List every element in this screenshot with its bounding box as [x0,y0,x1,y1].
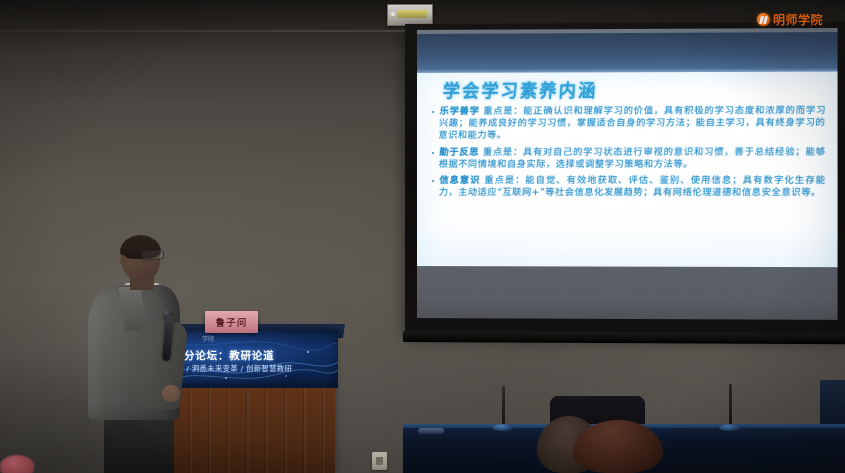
bullet-lead-term: 勤于反思 [439,147,479,158]
screen-bottom-bar [403,331,845,344]
slide-bullet-item: 乐学善学 重点是：能正确认识和理解学习的价值，具有积极的学习态度和浓厚的而学习兴… [431,105,825,143]
bullet-text: 勤于反思 重点是：具有对自己的学习状态进行审视的意识和习惯，善于总结经验；能够根… [438,146,826,171]
table-microphone-base [492,424,514,431]
table-object [418,428,444,434]
speaker-nameplate: 鲁子问 [205,311,258,333]
watermark-label: 明师学院 [773,11,823,28]
foreground-pink-object [0,455,34,473]
screen-unlit-bottom [417,266,838,320]
speaker-legs [104,415,174,473]
bullet-body-text: 重点是：能自觉、有效地获取、评估、鉴别、使用信息；具有数字化生存能力，主动适应“… [438,175,825,199]
presentation-photo-stage: 学会学习素养内涵 乐学善学 重点是：能正确认识和理解学习的价值，具有积极的学习态… [0,0,845,473]
slide-bullet-list: 乐学善学 重点是：能正确认识和理解学习的价值，具有积极的学习态度和浓厚的而学习兴… [431,105,825,204]
wall-power-outlet [372,452,387,470]
table-microphone-stem [502,386,505,428]
slide-title: 学会学习素养内涵 [442,75,599,103]
speaker-ear [120,255,127,266]
channel-watermark: 明师学院 [757,11,823,28]
fixture-indicator-dot [391,12,395,16]
bullet-text: 乐学善学 重点是：能正确认识和理解学习的价值，具有积极的学习态度和浓厚的而学习兴… [438,105,826,143]
projection-screen-surface: 学会学习素养内涵 乐学善学 重点是：能正确认识和理解学习的价值，具有积极的学习态… [417,28,838,320]
bullet-body-text: 重点是：具有对自己的学习状态进行审视的意识和习惯，善于总结经验；能够根据不同情境… [438,146,825,170]
speaker-name-label: 鲁子问 [215,315,247,329]
bullet-dot-icon [432,111,434,113]
bullet-lead-term: 信息意识 [439,175,481,186]
table-microphone-stem [729,384,732,428]
ms-circle-logo-icon [757,13,770,26]
bullet-dot-icon [432,152,434,154]
bullet-dot-icon [432,180,434,182]
slide-bullet-item: 信息意识 重点是：能自觉、有效地获取、评估、鉴别、使用信息；具有数字化生存能力，… [431,175,825,200]
table-microphone-base [719,424,741,431]
speaker-figure [84,233,206,473]
speaker-hand [162,385,180,402]
speaker-glasses [142,249,165,261]
bullet-lead-term: 乐学善学 [439,106,479,117]
ceiling-light-fixture [387,4,433,26]
bullet-body-text: 重点是：能正确认识和理解学习的价值，具有积极的学习态度和浓厚的而学习兴趣；能养成… [438,105,826,141]
bullet-text: 信息意识 重点是：能自觉、有效地获取、评估、鉴别、使用信息；具有数字化生存能力，… [438,175,826,200]
presentation-slide: 学会学习素养内涵 乐学善学 重点是：能正确认识和理解学习的价值，具有积极的学习态… [417,72,838,288]
slide-bullet-item: 勤于反思 重点是：具有对自己的学习状态进行审视的意识和习惯，善于总结经验；能够根… [431,146,825,171]
projection-screen-frame: 学会学习素养内涵 乐学善学 重点是：能正确认识和理解学习的价值，具有积极的学习态… [405,22,845,334]
right-table-extension [820,380,845,430]
fixture-lamp [397,10,427,18]
